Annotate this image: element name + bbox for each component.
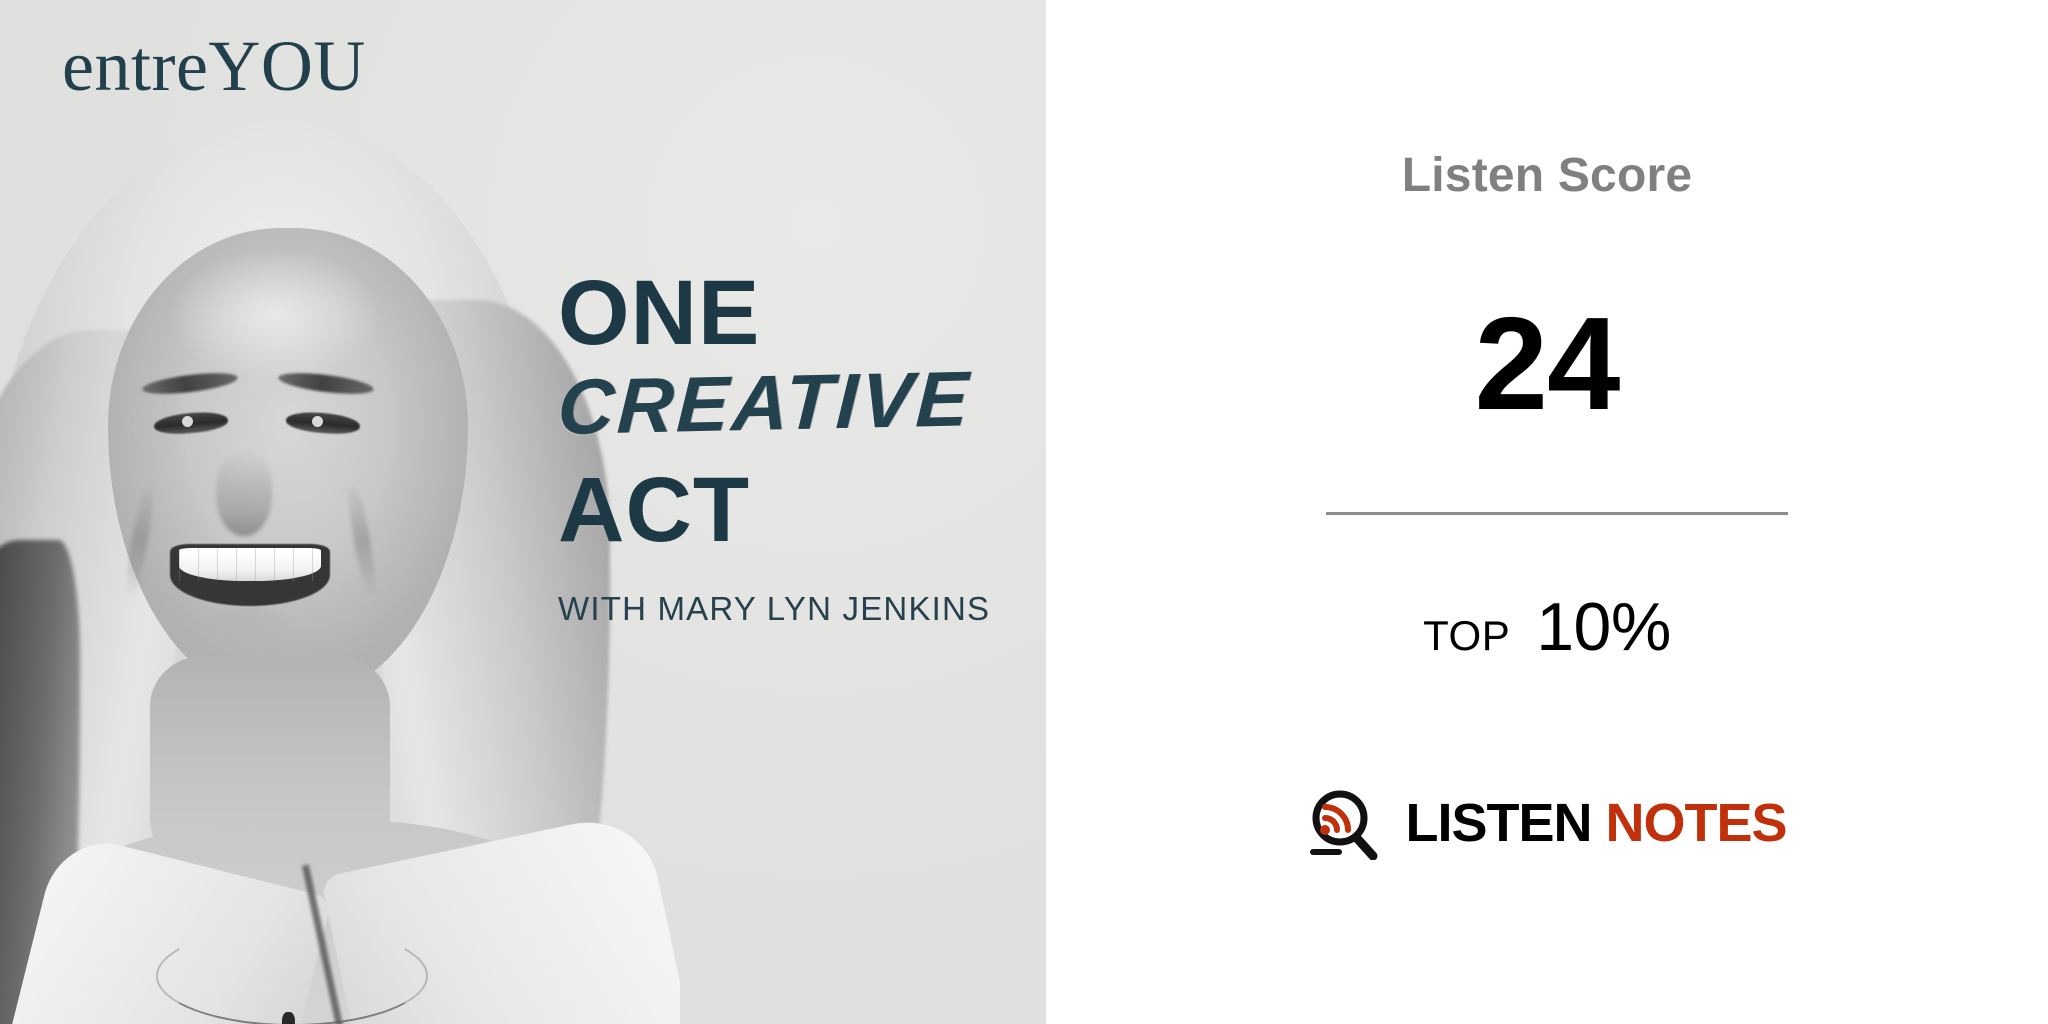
rank-value: 10%: [1536, 588, 1671, 666]
listen-score-value: 24: [1046, 298, 2048, 430]
listen-score-panel: Listen Score 24 TOP 10%: [1046, 0, 2048, 1024]
eye-highlight-left: [182, 416, 193, 427]
wordmark-listen: LISTEN: [1405, 793, 1591, 853]
listen-notes-wordmark: LISTENNOTES: [1405, 796, 1786, 850]
cover-title-block: ONE CREATIVE ACT WITH MARY LYN JENKINS: [558, 268, 1028, 628]
nose-shape: [216, 450, 272, 536]
teeth-shape: [179, 548, 321, 581]
cover-host-line: WITH MARY LYN JENKINS: [558, 590, 1028, 628]
listen-score-card: entreYOU ONE CREATIVE ACT WITH MARY LYN …: [0, 0, 2048, 1024]
magnifier-rss-icon: [1307, 786, 1381, 860]
eye-highlight-right: [312, 416, 323, 427]
forehead-highlight: [170, 250, 380, 380]
cover-brand-logo: entreYOU: [62, 30, 366, 102]
podcast-cover-art[interactable]: entreYOU ONE CREATIVE ACT WITH MARY LYN …: [0, 0, 1046, 1024]
rank-label: TOP: [1423, 612, 1510, 660]
cover-title-line-2: CREATIVE: [556, 358, 1030, 446]
listen-notes-logo[interactable]: LISTENNOTES: [1046, 786, 2048, 860]
listen-score-title: Listen Score: [1046, 148, 2048, 203]
necklace-pendant: [282, 1012, 295, 1024]
score-divider: [1326, 512, 1788, 515]
wordmark-notes: NOTES: [1605, 793, 1786, 853]
cover-title-line-1: ONE: [558, 268, 1028, 358]
cover-title-line-3: ACT: [558, 464, 1028, 556]
necklace-chain: [156, 926, 428, 1024]
listen-score-rank: TOP 10%: [1046, 588, 2048, 666]
